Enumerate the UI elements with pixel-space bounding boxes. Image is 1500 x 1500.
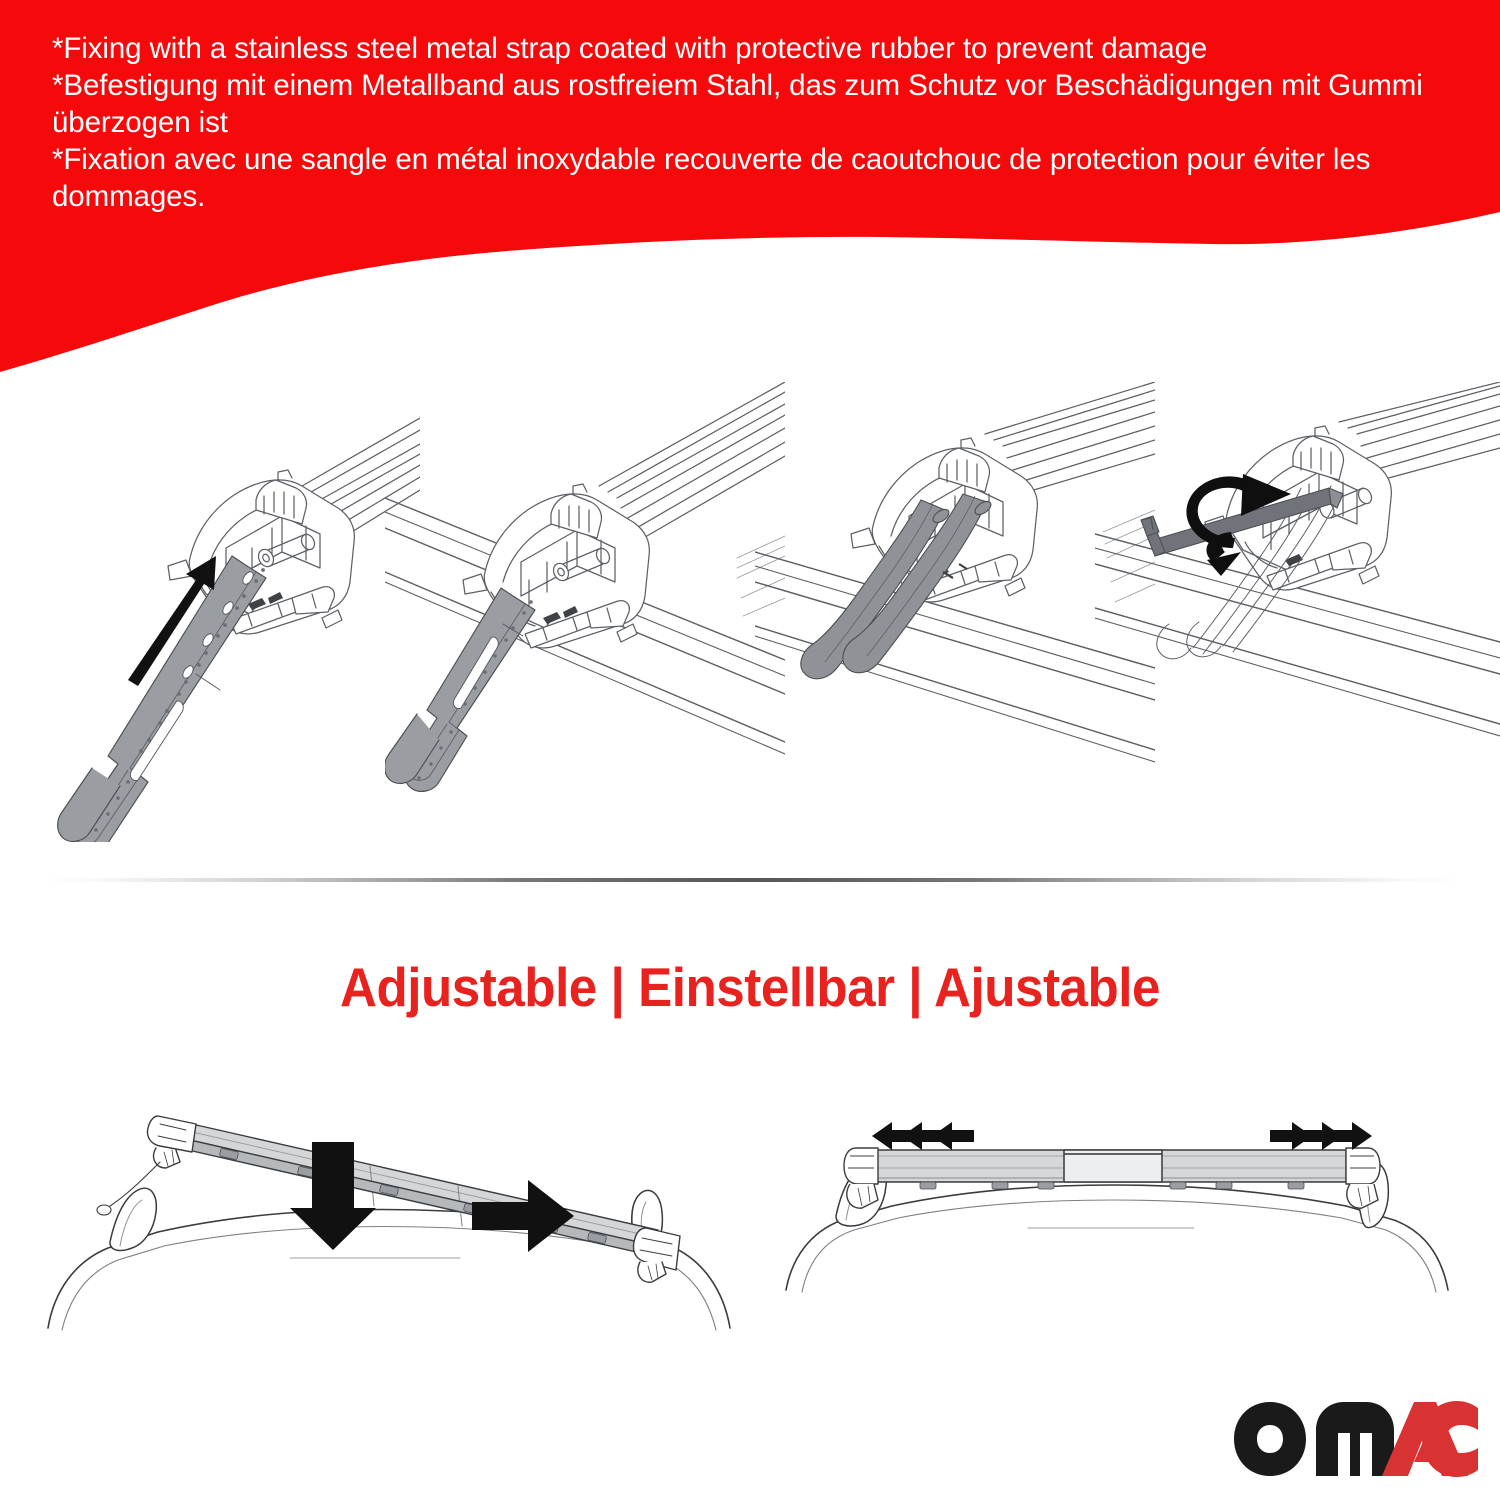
logo-letter-m	[1316, 1402, 1394, 1476]
triple-right-arrow-icon	[1270, 1122, 1372, 1150]
omac-logo	[1232, 1400, 1480, 1485]
step-1-drawing	[20, 382, 420, 842]
red-header-banner: *Fixing with a stainless steel metal str…	[0, 0, 1500, 380]
step-4-drawing	[1095, 382, 1500, 762]
triple-left-arrow-icon	[872, 1122, 974, 1150]
installation-steps-strip	[0, 382, 1500, 882]
illustration-adjust-width	[780, 1120, 1480, 1405]
banner-description-text: *Fixing with a stainless steel metal str…	[52, 30, 1452, 215]
step-1-insert-strap	[20, 382, 420, 882]
adjust-width-drawing	[780, 1120, 1480, 1400]
lower-crossbar-drawing	[40, 1080, 760, 1380]
step-2-drawing	[385, 382, 785, 802]
product-infographic-page: *Fixing with a stainless steel metal str…	[0, 0, 1500, 1500]
omac-logo-mark	[1232, 1400, 1480, 1480]
illustration-lower-crossbar	[40, 1080, 760, 1385]
adjustable-headline: Adjustable | Einstellbar | Ajustable	[53, 955, 1448, 1019]
logo-letter-o	[1234, 1402, 1306, 1476]
step-4-tighten-bolt	[1095, 382, 1500, 882]
section-divider	[40, 878, 1460, 882]
step-2-place-foot-on-rail	[385, 382, 785, 882]
